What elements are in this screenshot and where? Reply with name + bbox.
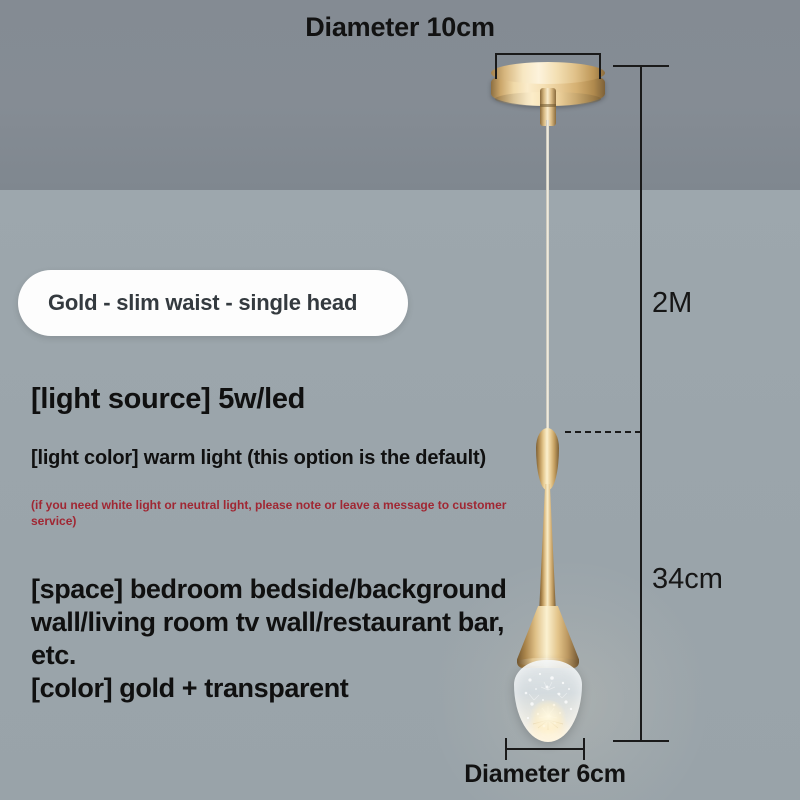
fixture-height-label: 34cm xyxy=(652,563,723,596)
top-bracket-tick-right xyxy=(599,53,601,79)
connector-band xyxy=(540,104,556,107)
height-dimension-line xyxy=(640,65,642,740)
bottom-bracket-tick-right xyxy=(583,738,585,760)
variant-badge: Gold - slim waist - single head xyxy=(18,270,408,336)
dimension-tick-top xyxy=(613,65,669,67)
spec-light-source: [light source] 5w/led xyxy=(31,383,305,416)
fixture-top-reference-line xyxy=(565,431,641,433)
canopy-top-face xyxy=(491,62,605,84)
top-bracket-tick-left xyxy=(495,53,497,79)
drop-length-label: 2M xyxy=(652,287,692,320)
spec-light-color-note: (if you need white light or neutral ligh… xyxy=(31,497,531,529)
spec-space-text: [space] bedroom bedside/background wall/… xyxy=(31,573,531,672)
bottom-bracket-tick-left xyxy=(505,738,507,760)
dimension-tick-bottom xyxy=(613,740,669,742)
top-diameter-label: Diameter 10cm xyxy=(0,12,800,43)
spec-light-color: [light color] warm light (this option is… xyxy=(31,447,486,470)
variant-label: Gold - slim waist - single head xyxy=(48,290,357,316)
top-diameter-bracket xyxy=(495,53,601,55)
spec-color-text: [color] gold + transparent xyxy=(31,672,531,705)
product-image: Diameter 10cm Diameter 6cm 2M 34cm Gold … xyxy=(0,0,800,800)
bottom-diameter-label: Diameter 6cm xyxy=(345,760,745,789)
bottom-diameter-bracket xyxy=(505,748,585,750)
suspension-cord xyxy=(546,120,549,432)
spec-space-and-color: [space] bedroom bedside/background wall/… xyxy=(31,573,531,705)
